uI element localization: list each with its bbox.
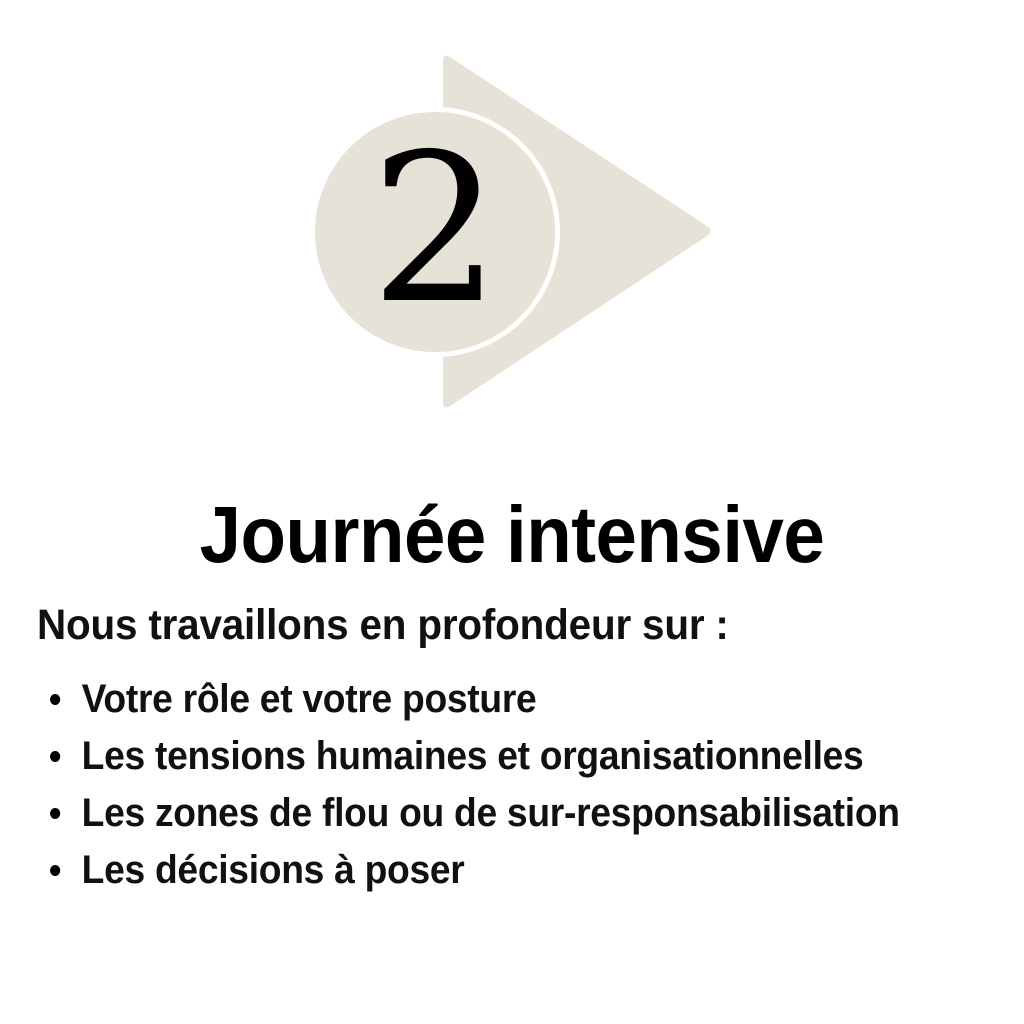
list-item-label: Les zones de flou ou de sur-responsabili… — [82, 785, 900, 842]
bullet-dot-icon — [50, 751, 60, 762]
body-block: Nous travaillons en profondeur sur : Vot… — [37, 600, 1024, 899]
slide-canvas: 2 Journée intensive Nous travaillons en … — [0, 0, 1024, 1024]
list-item-label: Les décisions à poser — [82, 842, 465, 899]
list-item: Les zones de flou ou de sur-responsabili… — [37, 785, 955, 842]
bullet-dot-icon — [50, 694, 60, 705]
bullet-list: Votre rôle et votre posture Les tensions… — [37, 671, 1024, 899]
list-item-label: Votre rôle et votre posture — [82, 671, 537, 728]
list-item: Les tensions humaines et organisationnel… — [37, 728, 955, 785]
list-item: Les décisions à poser — [37, 842, 955, 899]
bullet-dot-icon — [50, 865, 60, 876]
page-title: Journée intensive — [36, 495, 988, 575]
list-item: Votre rôle et votre posture — [37, 671, 955, 728]
badge-graphic: 2 — [0, 0, 1024, 440]
list-item-label: Les tensions humaines et organisationnel… — [82, 728, 864, 785]
intro-line: Nous travaillons en profondeur sur : — [37, 600, 965, 651]
badge-number: 2 — [313, 110, 558, 356]
bullet-dot-icon — [50, 808, 60, 819]
